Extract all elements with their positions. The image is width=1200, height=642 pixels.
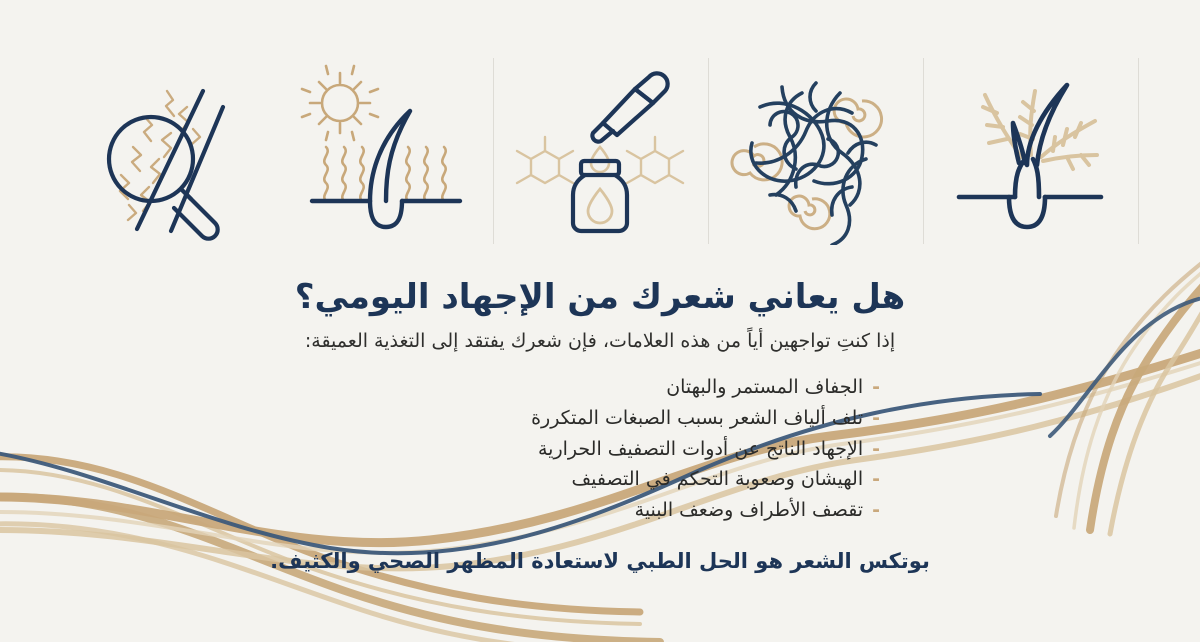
icon-cell-1 [63,42,278,257]
list-item-label: الإجهاد الناتج عن أدوات التصفيف الحرارية [538,434,863,465]
bullet-dash: - [872,403,880,434]
icon-cell-3 [493,42,708,257]
list-item: - الهيشان وصعوبة التحكم في التصفيف [320,464,880,495]
bullet-dash: - [872,434,880,465]
list-item-label: تلف ألياف الشعر بسبب الصبغات المتكررة [531,403,863,434]
bullet-dash: - [872,495,880,526]
list-item-label: الجفاف المستمر والبهتان [666,372,863,403]
bullet-dash: - [872,464,880,495]
icon-cell-2 [278,42,493,257]
list-item: - تقصف الأطراف وضعف البنية [320,495,880,526]
list-item: - الجفاف المستمر والبهتان [320,372,880,403]
list-item: - تلف ألياف الشعر بسبب الصبغات المتكررة [320,403,880,434]
tagline: بوتكس الشعر هو الحل الطبي لاستعادة المظه… [0,548,1200,575]
poster-root: هل يعاني شعرك من الإجهاد اليومي؟ إذا كنت… [0,0,1200,642]
split-end-follicle-icon [935,55,1125,245]
page-title: هل يعاني شعرك من الإجهاد اليومي؟ [0,276,1200,319]
text-block: هل يعاني شعرك من الإجهاد اليومي؟ إذا كنت… [0,276,1200,575]
dropper-serum-bottle-icon [505,55,695,245]
icon-row [0,42,1200,257]
icon-cell-5 [923,42,1138,257]
magnifier-damaged-hair-icon [75,55,265,245]
list-item: - الإجهاد الناتج عن أدوات التصفيف الحرار… [320,434,880,465]
tangled-frizzy-hair-icon [720,55,910,245]
list-item-label: تقصف الأطراف وضعف البنية [635,495,863,526]
sun-heat-follicle-icon [290,55,480,245]
subtitle: إذا كنتِ تواجهين أياً من هذه العلامات، ف… [0,329,1200,355]
bullet-dash: - [872,372,880,403]
symptom-list: - الجفاف المستمر والبهتان - تلف ألياف ال… [320,372,880,526]
icon-cell-4 [708,42,923,257]
list-item-label: الهيشان وصعوبة التحكم في التصفيف [572,464,864,495]
